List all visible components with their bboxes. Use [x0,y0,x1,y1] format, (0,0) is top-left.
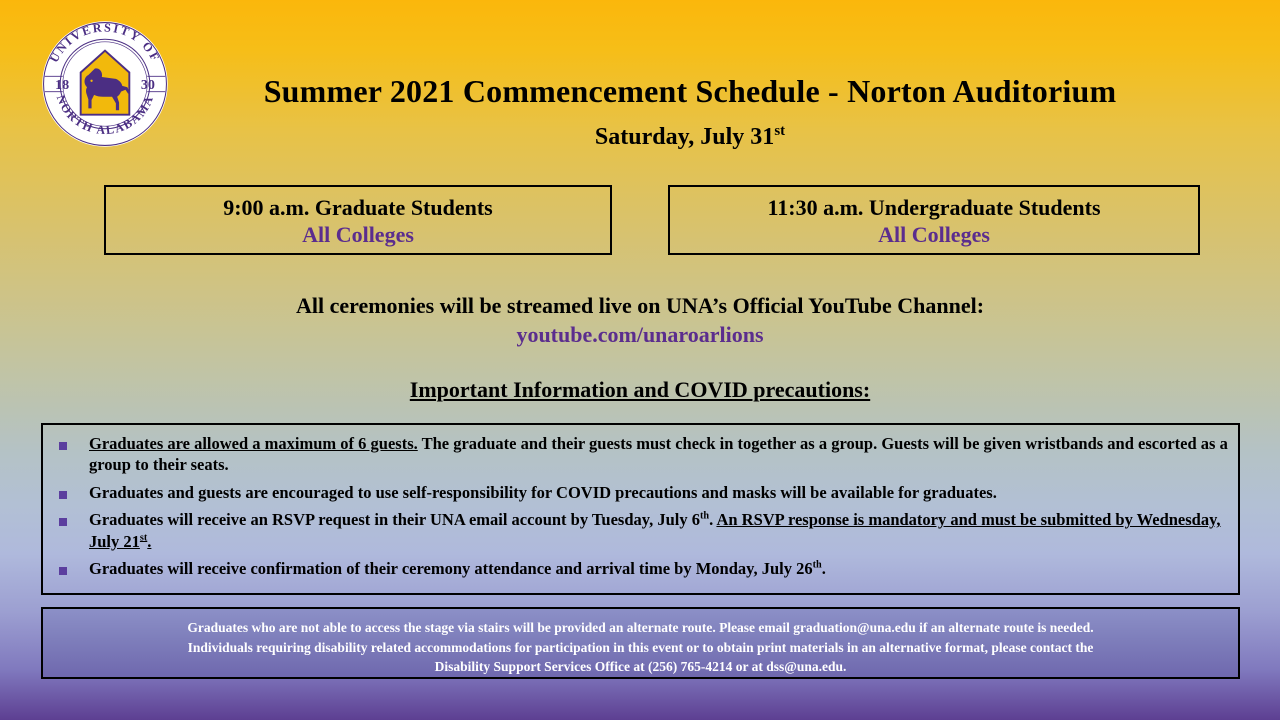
bullet-body: Graduates and guests are encouraged to u… [89,483,997,502]
bullet-text: Graduates will receive confirmation of t… [89,558,1228,579]
bullet-text: Graduates are allowed a maximum of 6 gue… [89,433,1228,476]
bullet-underlined-lead: Graduates are allowed a maximum of 6 gue… [89,434,418,453]
bullet-underlined-tail-end: . [147,532,151,551]
accessibility-line-3: Disability Support Services Office at (2… [43,657,1238,677]
page-title: Summer 2021 Commencement Schedule - Nort… [180,74,1200,109]
accessibility-line-2: Individuals requiring disability related… [43,638,1238,658]
ceremony-box-graduate: 9:00 a.m. Graduate Students All Colleges [104,185,612,255]
bullet-square-icon [59,567,67,575]
list-item: Graduates and guests are encouraged to u… [53,482,1228,503]
list-item: Graduates will receive an RSVP request i… [53,509,1228,552]
una-seal-icon: UNIVERSITY OF NORTH ALABAMA 18 30 [41,19,169,149]
bullet-ordinal-suffix: th [813,560,822,571]
ceremony-colleges-label: All Colleges [106,222,610,249]
ceremony-box-undergraduate: 11:30 a.m. Undergraduate Students All Co… [668,185,1200,255]
accessibility-line-1: Graduates who are not able to access the… [43,618,1238,638]
bullet-square-icon [59,518,67,526]
ceremony-time-label: 11:30 a.m. Undergraduate Students [670,195,1198,222]
ceremony-colleges-label: All Colleges [670,222,1198,249]
youtube-channel-link[interactable]: youtube.com/unaroarlions [40,322,1240,349]
subtitle-ordinal-suffix: st [774,123,785,139]
accessibility-notice-box: Graduates who are not able to access the… [41,607,1240,679]
bullet-square-icon [59,442,67,450]
bullet-mid: . [822,559,826,578]
list-item: Graduates are allowed a maximum of 6 gue… [53,433,1228,476]
svg-text:30: 30 [141,77,155,93]
bullet-text: Graduates will receive an RSVP request i… [89,509,1228,552]
bullet-body: Graduates will receive an RSVP request i… [89,510,700,529]
bullet-square-icon [59,491,67,499]
bullet-ordinal-suffix: th [700,511,709,522]
bullet-text: Graduates and guests are encouraged to u… [89,482,1228,503]
list-item: Graduates will receive confirmation of t… [53,558,1228,579]
streaming-note: All ceremonies will be streamed live on … [40,293,1240,320]
una-seal-logo: UNIVERSITY OF NORTH ALABAMA 18 30 [41,19,169,149]
important-info-heading-text: Important Information and COVID precauti… [410,377,870,402]
important-info-heading: Important Information and COVID precauti… [40,377,1240,403]
commencement-slide: UNIVERSITY OF NORTH ALABAMA 18 30 Summer… [0,0,1280,720]
important-info-box: Graduates are allowed a maximum of 6 gue… [41,423,1240,595]
bullet-body: Graduates will receive confirmation of t… [89,559,813,578]
subtitle-date: Saturday, July 31 [595,124,774,150]
page-subtitle: Saturday, July 31st [180,124,1200,150]
ceremony-time-label: 9:00 a.m. Graduate Students [106,195,610,222]
svg-text:18: 18 [55,77,69,93]
